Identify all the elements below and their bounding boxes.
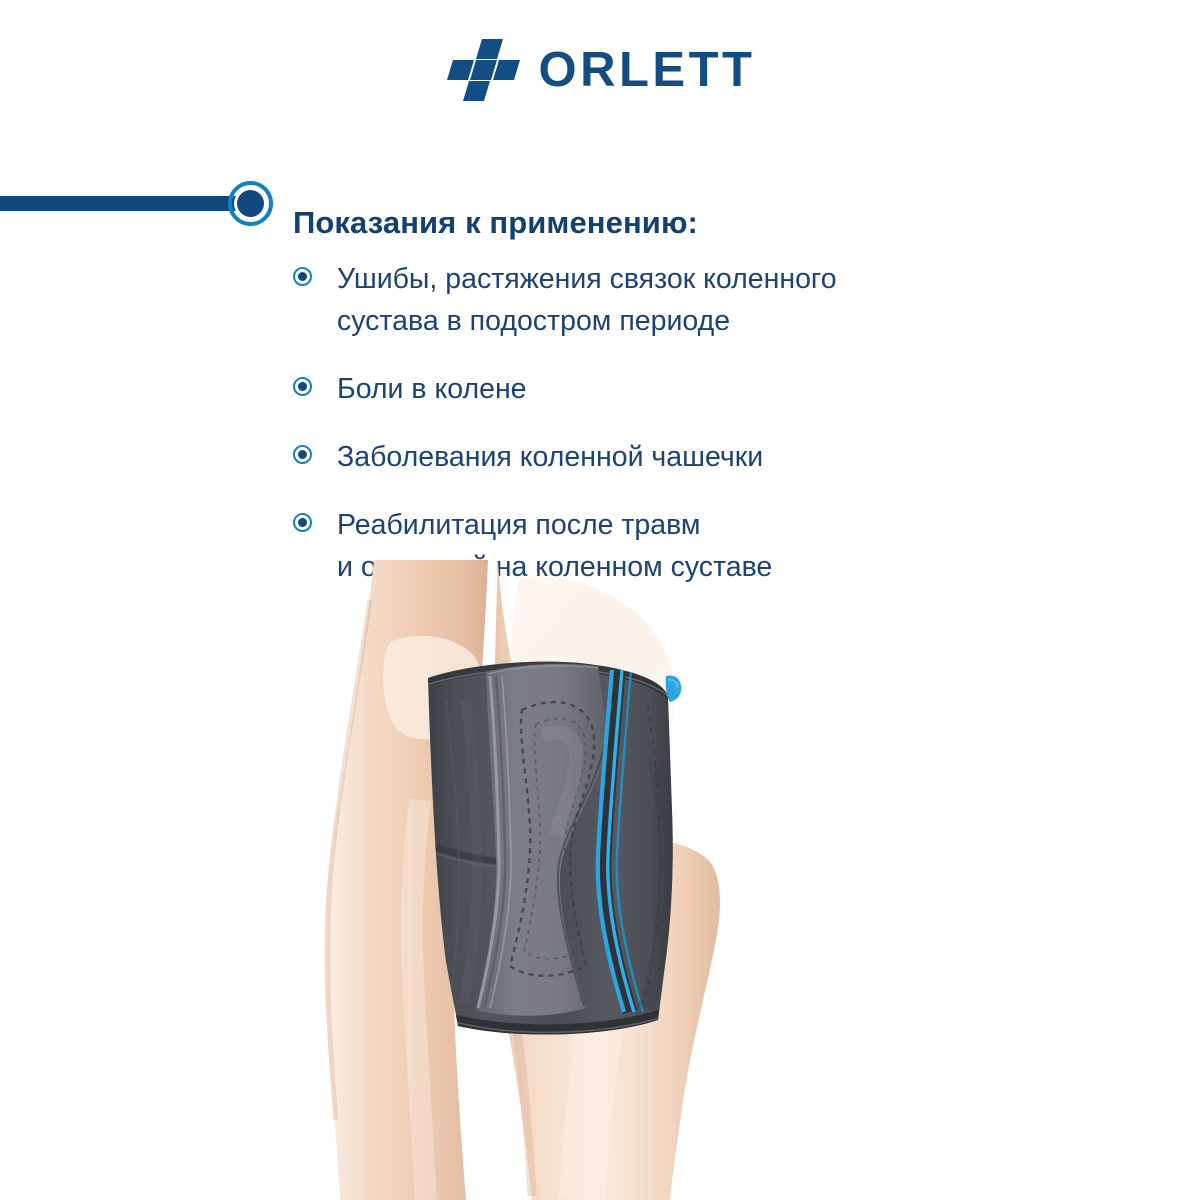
marker-center-dot	[237, 190, 264, 217]
knee-brace-illustration	[270, 560, 890, 1200]
list-item: Боли в колене	[293, 368, 1033, 410]
page-root: ORLETT Показания к применению: Ушибы, ра…	[0, 0, 1200, 1200]
bullet-center-dot	[298, 450, 307, 459]
heading-rule-line	[0, 196, 248, 211]
brand-wordmark: ORLETT	[539, 46, 756, 95]
ring-dot-bullet-icon	[293, 377, 312, 396]
list-item: Заболевания коленной чашечки	[293, 436, 1033, 478]
ring-dot-bullet-icon	[293, 513, 312, 532]
list-item: Ушибы, растяжения связок коленного суста…	[293, 258, 1033, 342]
orlett-cross-logo-icon	[445, 39, 523, 101]
list-item-line: Боли в колене	[337, 368, 1033, 410]
list-item-line: Реабилитация после травм	[337, 504, 1033, 546]
product-photo	[270, 560, 890, 1200]
ring-dot-marker-icon	[228, 181, 273, 226]
bullet-center-dot	[298, 272, 307, 281]
page-title: Показания к применению:	[293, 205, 698, 241]
knee-brace-sleeve	[420, 654, 681, 1048]
bullet-center-dot	[298, 518, 307, 527]
ring-dot-bullet-icon	[293, 445, 312, 464]
brand-logo: ORLETT	[0, 34, 1200, 106]
list-item-line: сустава в подостром периоде	[337, 300, 1033, 342]
list-item-label: Боли в колене	[337, 368, 1033, 410]
bullet-center-dot	[298, 382, 307, 391]
indications-list: Ушибы, растяжения связок коленного суста…	[293, 258, 1033, 588]
list-item-line: Ушибы, растяжения связок коленного	[337, 258, 1033, 300]
ring-dot-bullet-icon	[293, 267, 312, 286]
list-item-line: Заболевания коленной чашечки	[337, 436, 1033, 478]
list-item-label: Ушибы, растяжения связок коленного суста…	[337, 258, 1033, 342]
list-item-label: Заболевания коленной чашечки	[337, 436, 1033, 478]
